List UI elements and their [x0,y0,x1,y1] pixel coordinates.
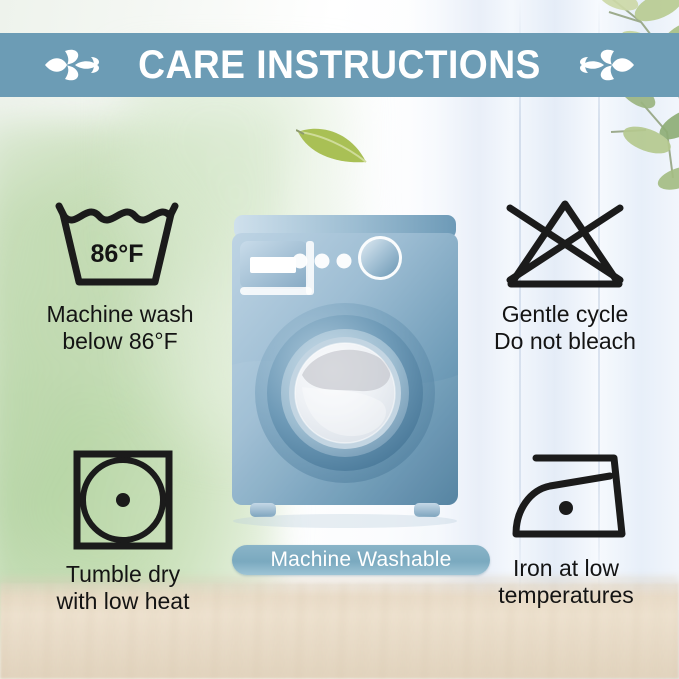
care-item-bleach-label: Gentle cycle Do not bleach [494,301,636,355]
care-item-dry-label: Tumble dry with low heat [57,561,190,615]
machine-washable-badge-label: Machine Washable [270,548,451,572]
do-not-bleach-triangle-icon [496,196,634,292]
care-instructions-infographic: CARE INSTRUCTIONS [0,0,679,679]
care-item-bleach: Gentle cycle Do not bleach [457,196,673,355]
washing-machine-illustration [228,215,462,535]
header-banner: CARE INSTRUCTIONS [0,33,679,97]
fleur-de-lis-icon [45,45,101,85]
iron-low-temperature-icon [502,448,630,546]
tumble-dry-low-icon [71,448,175,552]
page-title: CARE INSTRUCTIONS [138,43,541,88]
care-item-wash: 86°F Machine wash below 86°F [12,196,228,355]
care-item-iron-label: Iron at low temperatures [498,555,634,609]
machine-washable-badge: Machine Washable [232,545,490,575]
fleur-de-lis-icon-right [578,45,634,85]
wash-temperature-value: 86°F [63,240,171,269]
care-item-iron: Iron at low temperatures [461,448,671,609]
care-item-dry: Tumble dry with low heat [18,448,228,615]
care-item-wash-label: Machine wash below 86°F [46,301,193,355]
